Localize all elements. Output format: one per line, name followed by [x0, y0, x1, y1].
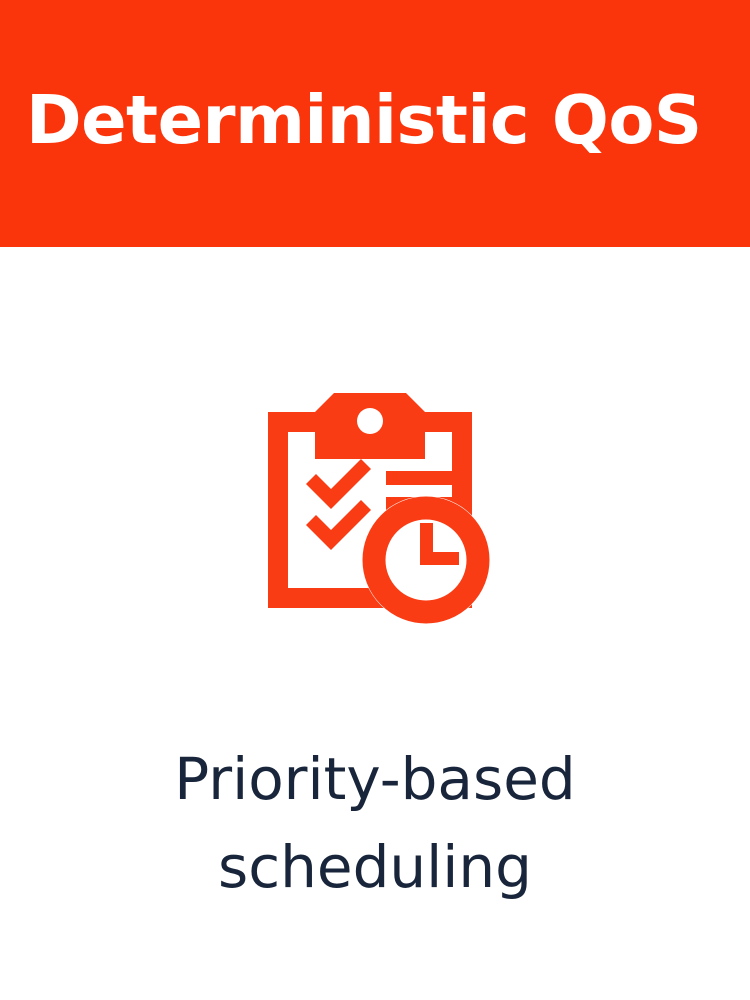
card-header-banner: Deterministic QoS — [0, 0, 750, 247]
clipboard-clip-hole — [357, 408, 383, 434]
card-caption: Priority-based scheduling — [0, 735, 750, 911]
clipboard-checklist-clock-icon — [255, 385, 495, 625]
caption-line-2: scheduling — [0, 823, 750, 911]
clock-hand-minute — [420, 552, 459, 565]
caption-line-1: Priority-based — [0, 735, 750, 823]
page-title: Deterministic QoS — [26, 85, 702, 155]
feature-card: Deterministic QoS — [0, 0, 750, 1000]
list-line-4 — [386, 548, 419, 562]
list-line-1 — [386, 471, 452, 485]
checkmark-icon-2 — [306, 500, 371, 550]
